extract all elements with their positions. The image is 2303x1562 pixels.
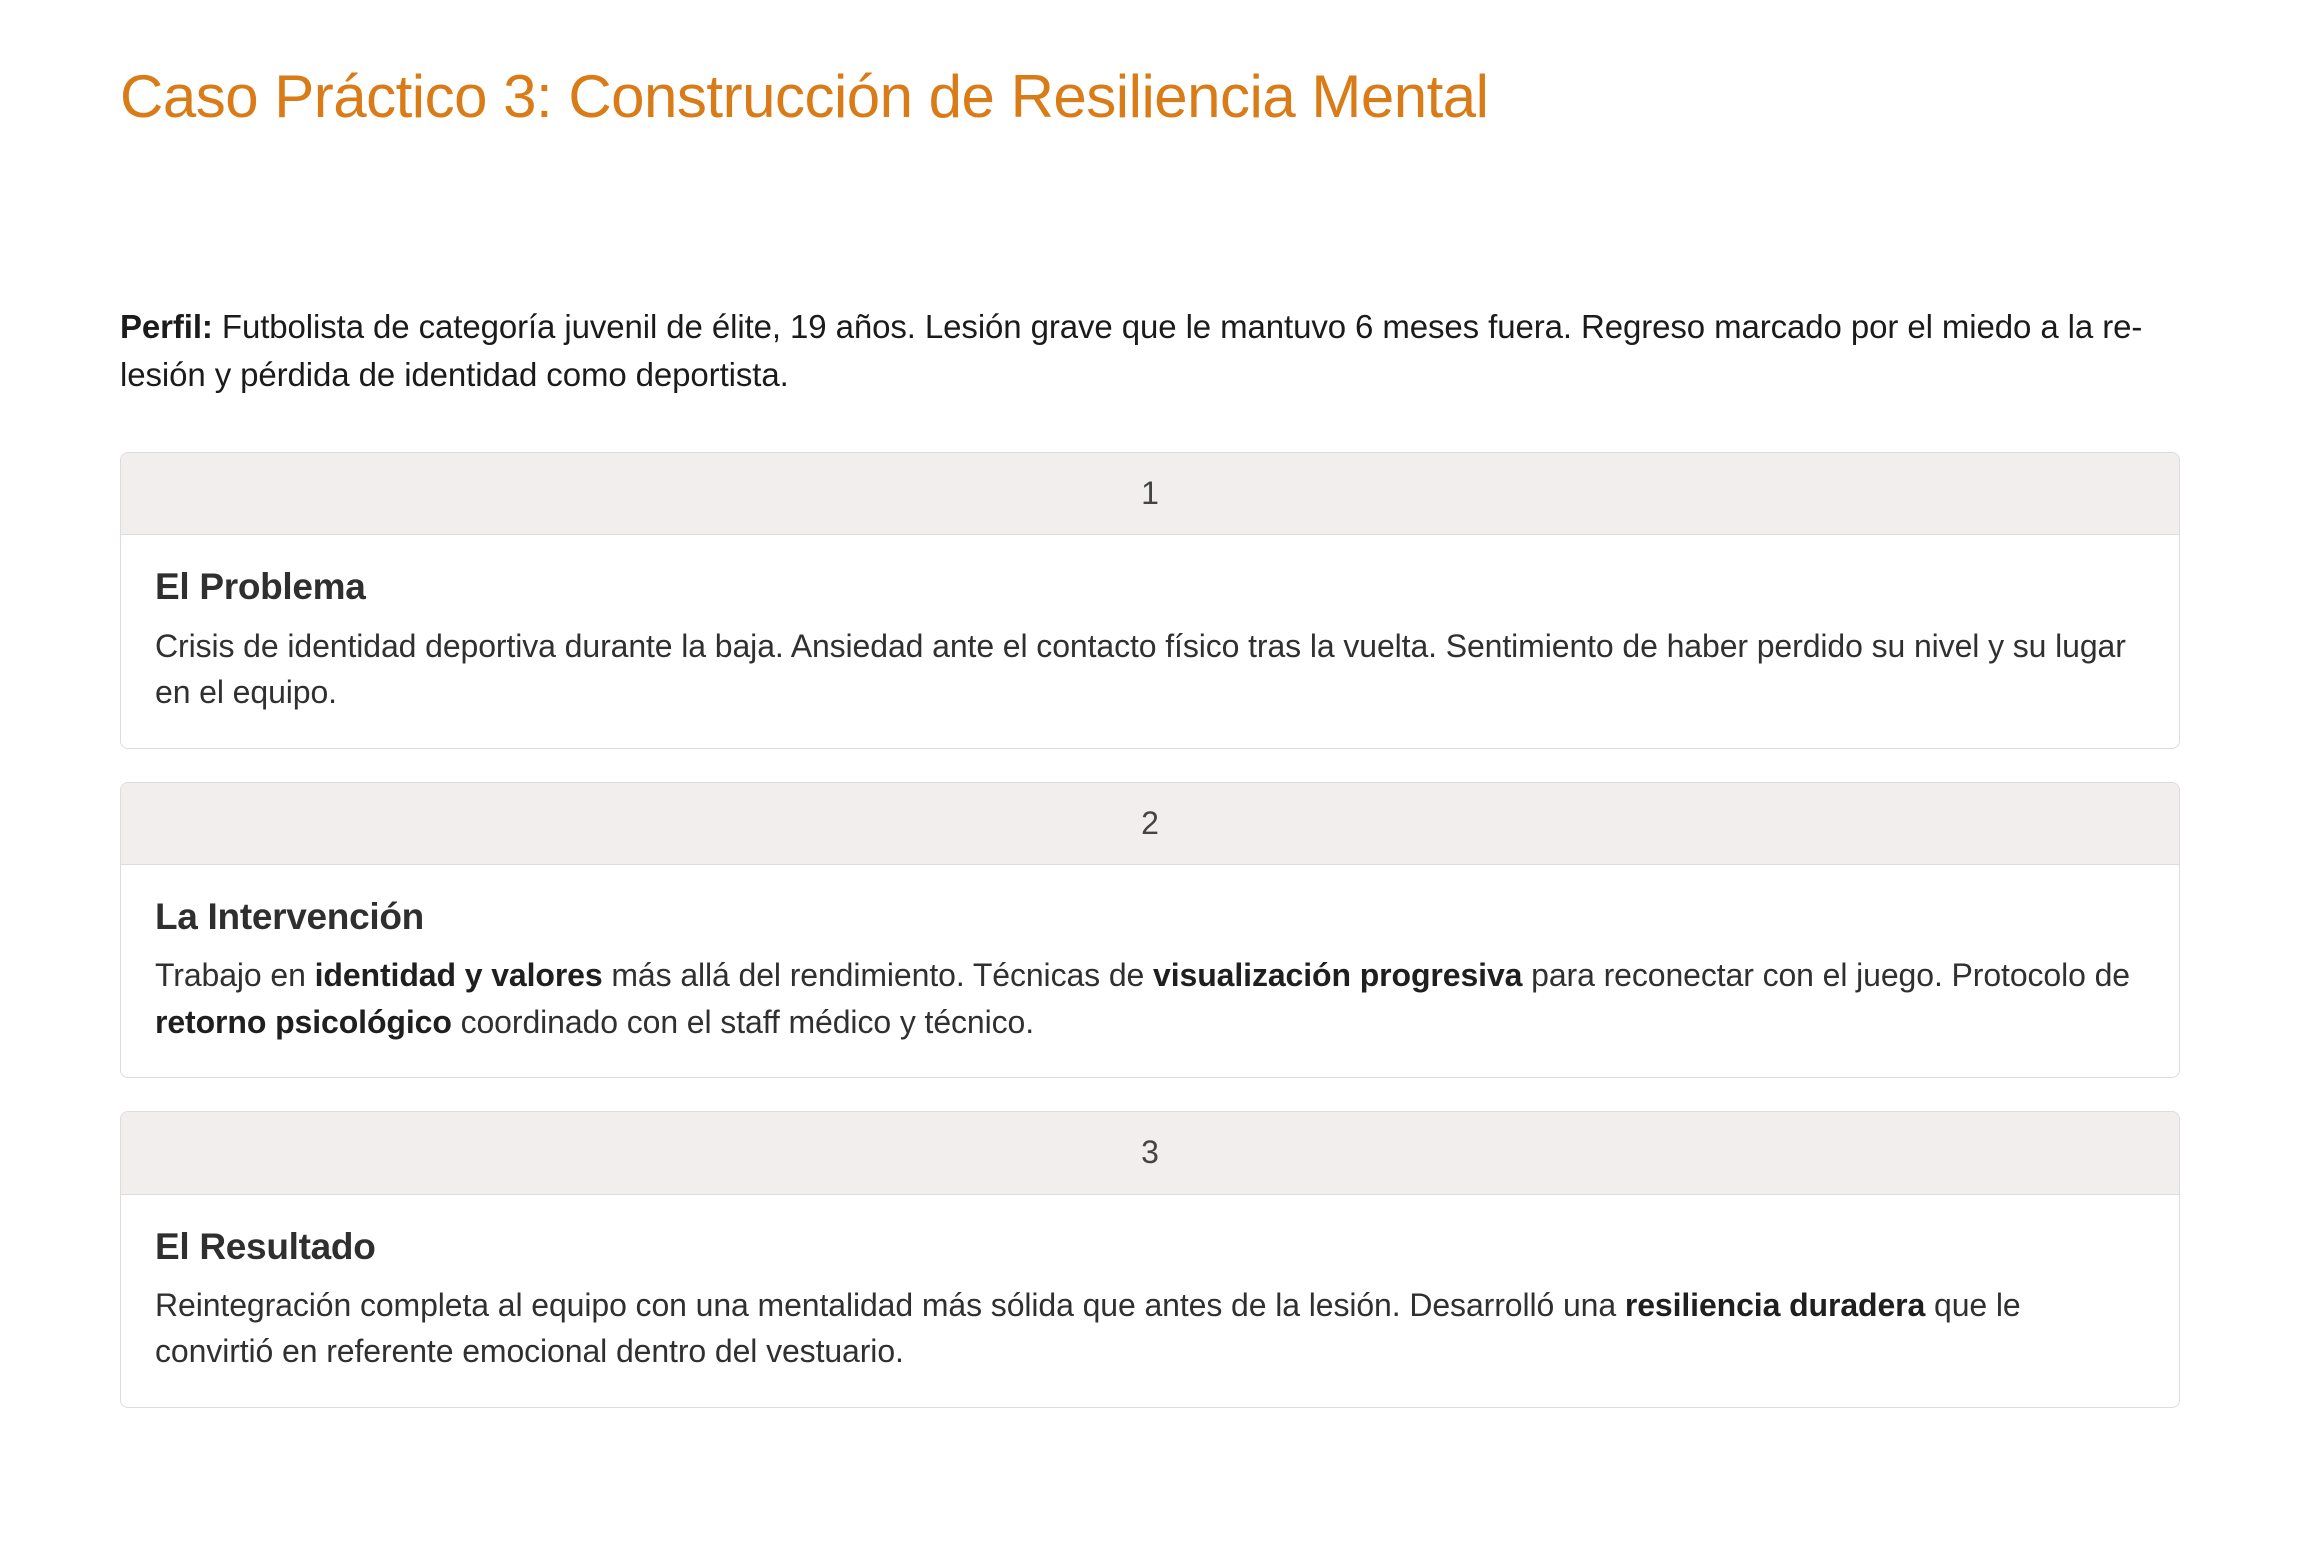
plain-text: más allá del rendimiento. Técnicas de	[603, 957, 1153, 993]
plain-text: Crisis de identidad deportiva durante la…	[155, 628, 2126, 710]
plain-text: Trabajo en	[155, 957, 315, 993]
case-card-body: La Intervención Trabajo en identidad y v…	[121, 865, 2179, 1077]
page-root: Caso Práctico 3: Construcción de Resilie…	[0, 0, 2303, 1562]
case-card-number: 2	[121, 783, 2179, 865]
case-card: 3 El Resultado Reintegración completa al…	[120, 1111, 2180, 1408]
plain-text: Reintegración completa al equipo con una…	[155, 1287, 1625, 1323]
case-card-number: 1	[121, 453, 2179, 535]
case-card-text: Trabajo en identidad y valores más allá …	[155, 952, 2145, 1045]
page-title: Caso Práctico 3: Construcción de Resilie…	[120, 62, 1488, 133]
profile-paragraph: Perfil: Futbolista de categoría juvenil …	[120, 303, 2180, 399]
emphasis-text: resiliencia duradera	[1625, 1287, 1925, 1323]
case-card-title: El Problema	[155, 565, 2145, 609]
profile-label: Perfil:	[120, 308, 213, 345]
case-card-body: El Problema Crisis de identidad deportiv…	[121, 535, 2179, 747]
plain-text: para reconectar con el juego. Protocolo …	[1522, 957, 2130, 993]
emphasis-text: identidad y valores	[315, 957, 603, 993]
profile-text: Futbolista de categoría juvenil de élite…	[120, 308, 2142, 393]
case-card-title: La Intervención	[155, 895, 2145, 939]
case-card-number: 3	[121, 1112, 2179, 1194]
case-card-list: 1 El Problema Crisis de identidad deport…	[120, 452, 2180, 1408]
emphasis-text: visualización progresiva	[1153, 957, 1522, 993]
emphasis-text: retorno psicológico	[155, 1004, 452, 1040]
plain-text: coordinado con el staff médico y técnico…	[452, 1004, 1034, 1040]
case-card: 1 El Problema Crisis de identidad deport…	[120, 452, 2180, 749]
case-card-title: El Resultado	[155, 1225, 2145, 1269]
case-card: 2 La Intervención Trabajo en identidad y…	[120, 782, 2180, 1079]
case-card-body: El Resultado Reintegración completa al e…	[121, 1195, 2179, 1407]
case-card-text: Crisis de identidad deportiva durante la…	[155, 623, 2145, 716]
case-card-text: Reintegración completa al equipo con una…	[155, 1282, 2145, 1375]
